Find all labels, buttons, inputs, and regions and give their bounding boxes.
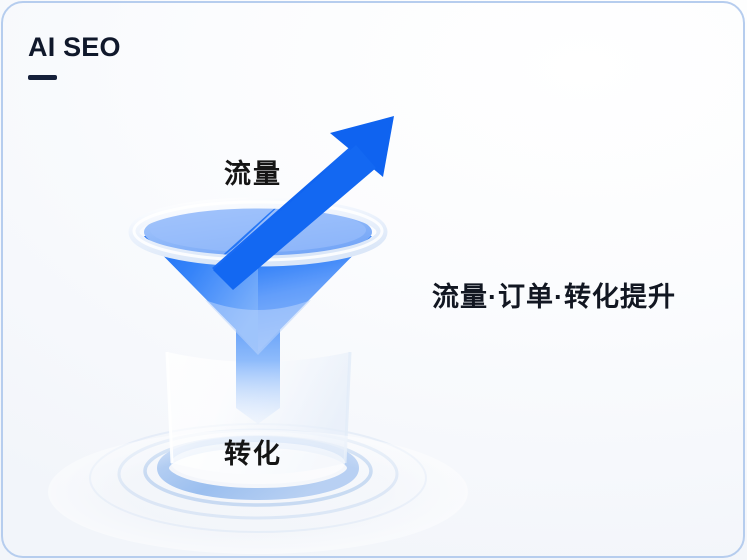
slide-canvas: AI SEO 流量 转化 流量·订单·转化提升	[0, 0, 747, 560]
page-title-block: AI SEO	[28, 34, 121, 80]
funnel-top-label: 流量	[224, 152, 282, 191]
funnel-bottom-label: 转化	[224, 432, 282, 471]
title-underline-rule	[28, 75, 57, 80]
tagline-text: 流量·订单·转化提升	[432, 275, 676, 314]
page-title: AI SEO	[28, 34, 121, 61]
